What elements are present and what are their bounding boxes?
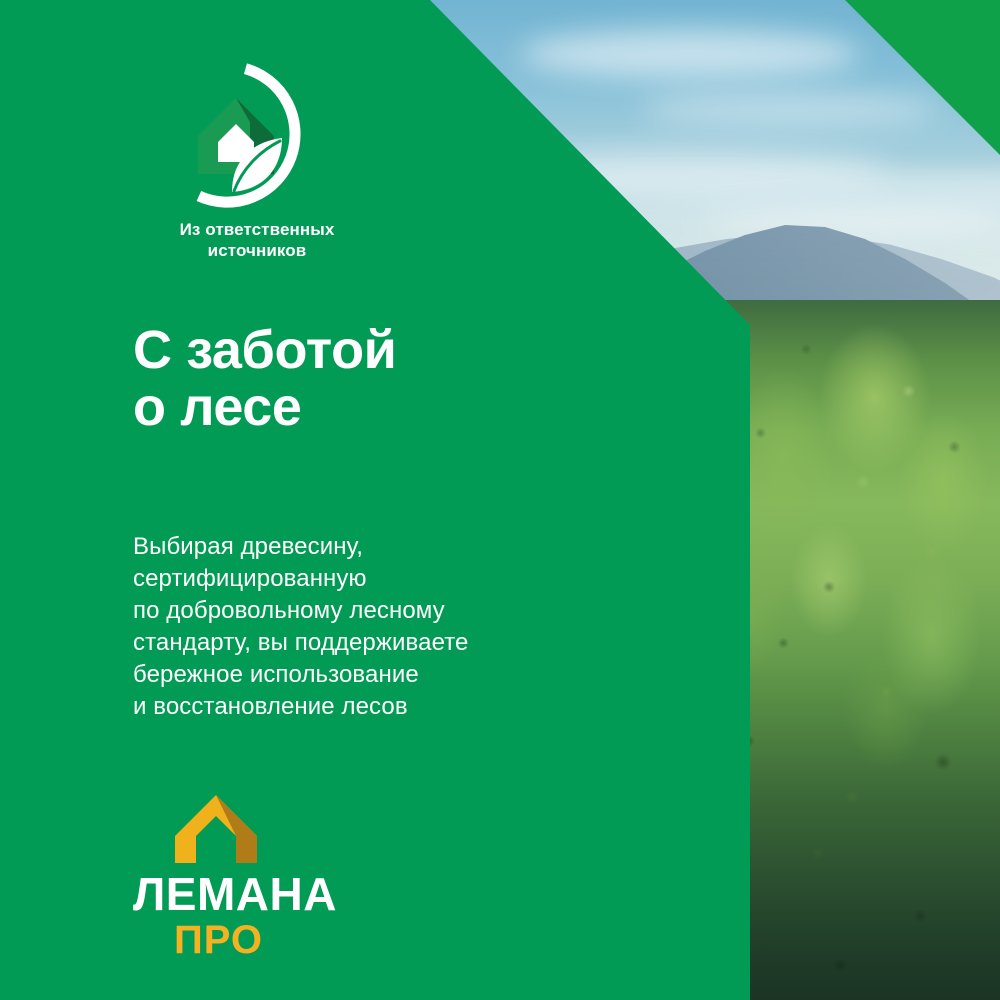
brand-lockup: ЛЕМАНА ПРО (133, 793, 373, 960)
banner-content: Из ответственных источников С заботой о … (0, 0, 1000, 1000)
lemana-house-icon (173, 793, 259, 865)
certification-badge-caption: Из ответственных источников (132, 220, 382, 261)
responsible-sources-house-leaf-icon (162, 62, 310, 210)
badge-caption-line-2: источников (132, 241, 382, 262)
brand-name: ЛЕМАНА (133, 871, 373, 917)
body-copy: Выбирая древесину, сертифицированную по … (133, 531, 469, 722)
certification-badge: Из ответственных источников (132, 62, 432, 261)
brand-sub: ПРО (174, 920, 373, 960)
headline: С заботой о лесе (133, 322, 396, 436)
badge-caption-line-1: Из ответственных (132, 220, 382, 241)
promotional-banner: Из ответственных источников С заботой о … (0, 0, 1000, 1000)
